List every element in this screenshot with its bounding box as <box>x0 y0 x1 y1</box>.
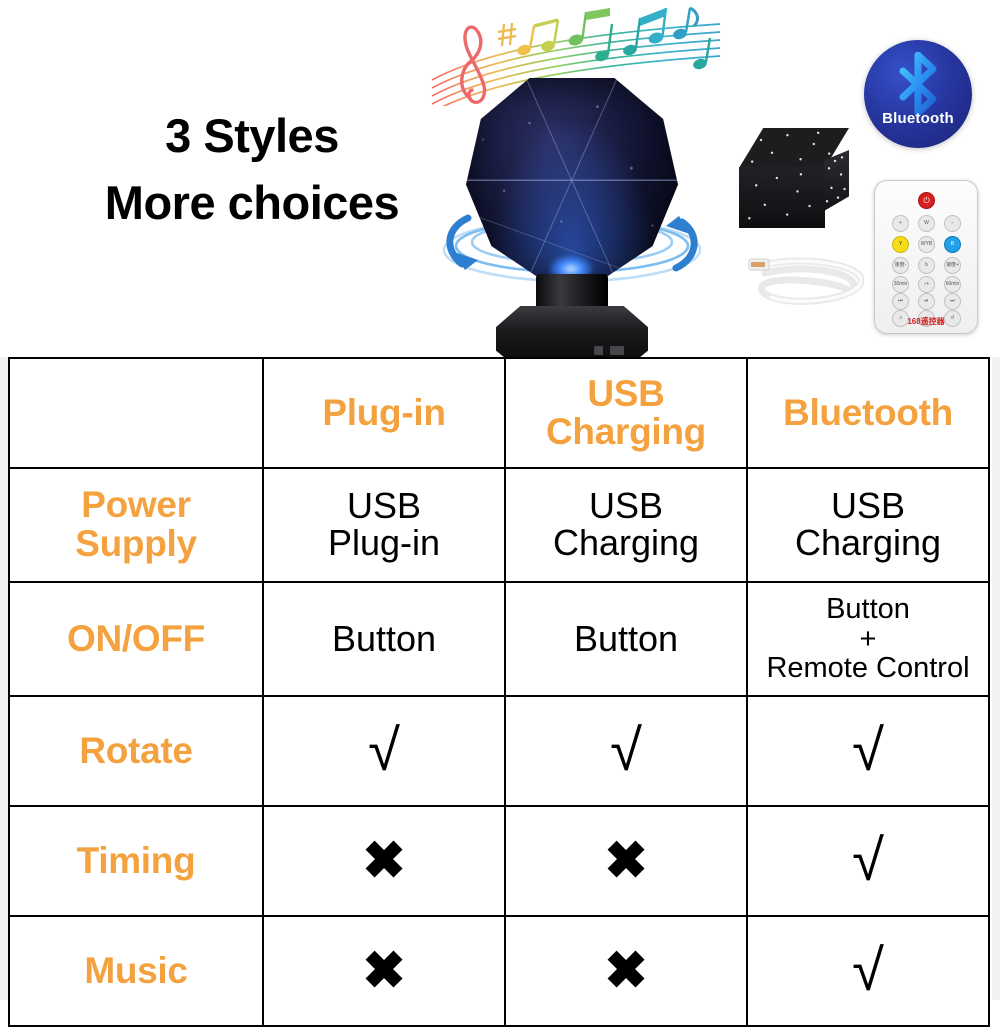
gift-box-front <box>739 167 825 228</box>
remote-timer-60-button[interactable]: 60min <box>944 276 961 293</box>
cell-music-bluetooth: √ <box>747 916 989 1026</box>
header-plug-in-line1: Plug-in <box>322 392 445 433</box>
star-projector-lamp <box>452 78 692 358</box>
cross-mark-icon: ✖ <box>604 835 648 887</box>
cell-rotate-usb-charging: √ <box>505 696 747 806</box>
table-header-row: Plug-in USB Charging Bluetooth <box>9 358 989 468</box>
check-mark-icon: √ <box>368 722 400 780</box>
cell-timing-usb-charging: ✖ <box>505 806 747 916</box>
bluetooth-badge-label: Bluetooth <box>864 110 972 127</box>
header-cell-bluetooth: Bluetooth <box>747 358 989 468</box>
cell-text-line2: Charging <box>752 525 984 562</box>
row-label-on-off: ON/OFF <box>9 582 263 696</box>
remote-rotate-button[interactable]: ↻ <box>918 257 935 274</box>
header-cell-usb-charging: USB Charging <box>505 358 747 468</box>
row-label-power-supply: Power Supply <box>9 468 263 582</box>
constellation-gift-box <box>739 128 849 228</box>
table-row-music: Music ✖ ✖ √ <box>9 916 989 1026</box>
gift-box-side <box>824 150 849 211</box>
cell-text-line1: USB <box>510 488 742 525</box>
row-label-power-supply-line1: Power <box>14 486 258 525</box>
row-label-music: Music <box>9 916 263 1026</box>
cell-on-off-plug-in: Button <box>263 582 505 696</box>
remote-blue-button[interactable]: B <box>944 236 961 253</box>
cell-power-supply-usb-charging: USB Charging <box>505 468 747 582</box>
cell-text-line1: USB <box>752 488 984 525</box>
remote-power-button[interactable]: ⏻ <box>918 192 935 209</box>
cell-text-line1: USB <box>268 488 500 525</box>
cell-timing-bluetooth: √ <box>747 806 989 916</box>
header-usb-charging-line1: USB <box>510 375 742 413</box>
table-row-on-off: ON/OFF Button Button Button + Remote Con… <box>9 582 989 696</box>
remote-play-pause-button[interactable]: ⏯ <box>918 293 935 310</box>
cell-music-usb-charging: ✖ <box>505 916 747 1026</box>
cell-text-line2: Plug-in <box>268 525 500 562</box>
remote-w-button[interactable]: W <box>918 215 935 232</box>
cross-mark-icon: ✖ <box>362 945 406 997</box>
cell-text-line1: Button <box>752 595 984 625</box>
remote-previous-button[interactable]: ⏮ <box>892 293 909 310</box>
cell-text-line1: Button <box>574 618 678 659</box>
header-cell-blank <box>9 358 263 468</box>
row-label-timing-text: Timing <box>77 840 196 881</box>
headline-line-1: 3 Styles <box>52 103 452 170</box>
row-label-rotate: Rotate <box>9 696 263 806</box>
remote-speed-up-button[interactable]: 速度+ <box>944 257 961 274</box>
remote-volume-up-button[interactable]: ♪+ <box>918 276 935 293</box>
row-label-timing: Timing <box>9 806 263 916</box>
remote-wyb-button[interactable]: WYB <box>918 236 935 253</box>
check-mark-icon: √ <box>852 942 884 1000</box>
cell-power-supply-plug-in: USB Plug-in <box>263 468 505 582</box>
row-label-on-off-text: ON/OFF <box>67 618 205 659</box>
cell-text-line1: Button <box>332 618 436 659</box>
check-mark-icon: √ <box>852 832 884 890</box>
cell-rotate-bluetooth: √ <box>747 696 989 806</box>
cell-text-line3: Remote Control <box>752 654 984 684</box>
row-label-power-supply-line2: Supply <box>14 525 258 564</box>
remote-next-button[interactable]: ⏭ <box>944 293 961 310</box>
cell-music-plug-in: ✖ <box>263 916 505 1026</box>
row-label-rotate-text: Rotate <box>79 730 192 771</box>
cell-timing-plug-in: ✖ <box>263 806 505 916</box>
comparison-table: Plug-in USB Charging Bluetooth Power Sup… <box>8 357 990 1027</box>
cell-rotate-plug-in: √ <box>263 696 505 806</box>
hero-section: 3 Styles More choices <box>0 0 1000 357</box>
page-title: 3 Styles More choices <box>52 103 452 236</box>
cell-on-off-bluetooth: Button + Remote Control <box>747 582 989 696</box>
remote-yellow-button[interactable]: Y <box>892 236 909 253</box>
cell-power-supply-bluetooth: USB Charging <box>747 468 989 582</box>
table-row-rotate: Rotate √ √ √ <box>9 696 989 806</box>
bluetooth-badge: Bluetooth <box>864 40 972 148</box>
cell-text-line2: + <box>752 625 984 654</box>
headline-line-2: More choices <box>52 170 452 237</box>
cell-on-off-usb-charging: Button <box>505 582 747 696</box>
check-mark-icon: √ <box>852 722 884 780</box>
row-label-music-text: Music <box>84 950 187 991</box>
cross-mark-icon: ✖ <box>604 945 648 997</box>
header-usb-charging-line2: Charging <box>510 413 742 451</box>
cell-text-line2: Charging <box>510 525 742 562</box>
remote-model-label: 168遥控器 <box>875 316 977 327</box>
bluetooth-icon <box>891 52 945 116</box>
header-cell-plug-in: Plug-in <box>263 358 505 468</box>
check-mark-icon: √ <box>610 722 642 780</box>
header-bluetooth-line1: Bluetooth <box>783 392 953 433</box>
remote-speed-down-button[interactable]: 速度- <box>892 257 909 274</box>
remote-minus-button[interactable]: − <box>944 215 961 232</box>
remote-control: ⏻ + W − Y WYB B 速度- ↻ 速度+ 30min ♪+ 60min… <box>874 180 978 334</box>
remote-plus-button[interactable]: + <box>892 215 909 232</box>
cross-mark-icon: ✖ <box>362 835 406 887</box>
remote-timer-30-button[interactable]: 30min <box>892 276 909 293</box>
table-row-power-supply: Power Supply USB Plug-in USB Charging US… <box>9 468 989 582</box>
table-row-timing: Timing ✖ ✖ √ <box>9 806 989 916</box>
usb-cable-icon <box>745 247 875 313</box>
